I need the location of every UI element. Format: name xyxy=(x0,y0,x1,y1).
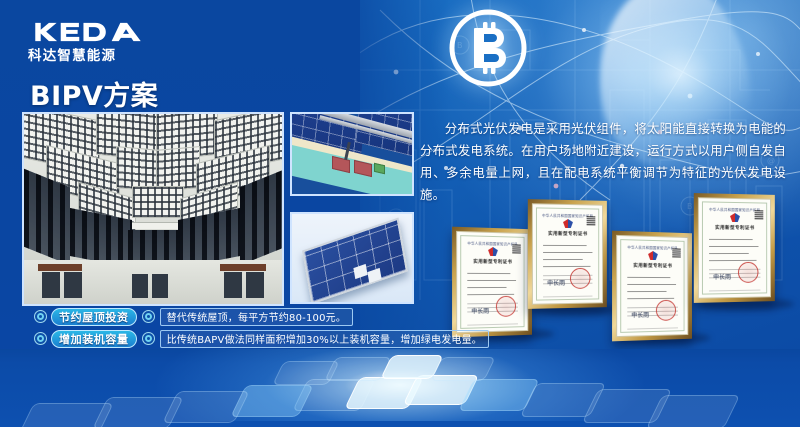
qr-code-icon xyxy=(512,244,521,253)
bullet-dot-icon xyxy=(34,332,47,345)
certificate-signature: 申长雨 xyxy=(547,278,565,287)
qr-code-icon xyxy=(755,210,764,219)
bullet-dot-icon xyxy=(142,332,155,345)
certificate-signature: 申长雨 xyxy=(471,306,489,315)
bitcoin-icon xyxy=(446,6,530,90)
certificate-gallery: 中华人民共和国国家知识产权局 实用新型专利证书 申长雨 中华人民共和国国家知识产… xyxy=(452,186,800,346)
benefit-tag: 增加装机容量 xyxy=(51,330,137,348)
keda-logo-icon xyxy=(28,22,148,42)
certificate-frame: 中华人民共和国国家知识产权局 实用新型专利证书 申长雨 xyxy=(528,199,607,309)
qr-code-icon xyxy=(672,248,681,257)
certificate-frame: 中华人民共和国国家知识产权局 实用新型专利证书 申长雨 xyxy=(612,231,692,342)
qr-code-icon xyxy=(587,216,596,225)
certificate-title: 实用新型专利证书 xyxy=(699,225,770,232)
brand-logo: 科达智慧能源 xyxy=(28,22,148,64)
bullet-dot-icon xyxy=(34,310,47,323)
bullet-dot-icon xyxy=(142,310,155,323)
mounting-detail-diagram xyxy=(290,112,414,196)
page-title: BIPV方案 xyxy=(30,74,158,113)
pv-module-diagram xyxy=(290,212,414,304)
certificate-title: 实用新型专利证书 xyxy=(617,262,687,269)
bipv-skylight-photo xyxy=(22,112,284,306)
benefit-row: 增加装机容量 比传统BAPV做法同样面积增加30%以上装机容量，增加绿电发电量。 xyxy=(34,328,454,349)
benefit-tag: 节约屋顶投资 xyxy=(51,308,137,326)
benefit-description: 比传统BAPV做法同样面积增加30%以上装机容量，增加绿电发电量。 xyxy=(160,330,489,348)
poster-canvas: BB BB @B xyxy=(0,0,800,427)
benefit-description: 替代传统屋顶，每平方节约80-100元。 xyxy=(160,308,353,326)
brand-name-cn: 科达智慧能源 xyxy=(28,44,148,64)
benefit-row: 节约屋顶投资 替代传统屋顶，每平方节约80-100元。 xyxy=(34,306,454,327)
certificate-frame: 中华人民共和国国家知识产权局 实用新型专利证书 申长雨 xyxy=(694,193,775,303)
floor-tile-decoration xyxy=(0,349,800,427)
certificate-frame: 中华人民共和国国家知识产权局 实用新型专利证书 申长雨 xyxy=(452,227,532,338)
certificate-title: 实用新型专利证书 xyxy=(457,258,527,265)
certificate-signature: 申长雨 xyxy=(631,310,649,319)
certificate-signature: 申长雨 xyxy=(713,272,731,281)
certificate-title: 实用新型专利证书 xyxy=(533,231,602,238)
